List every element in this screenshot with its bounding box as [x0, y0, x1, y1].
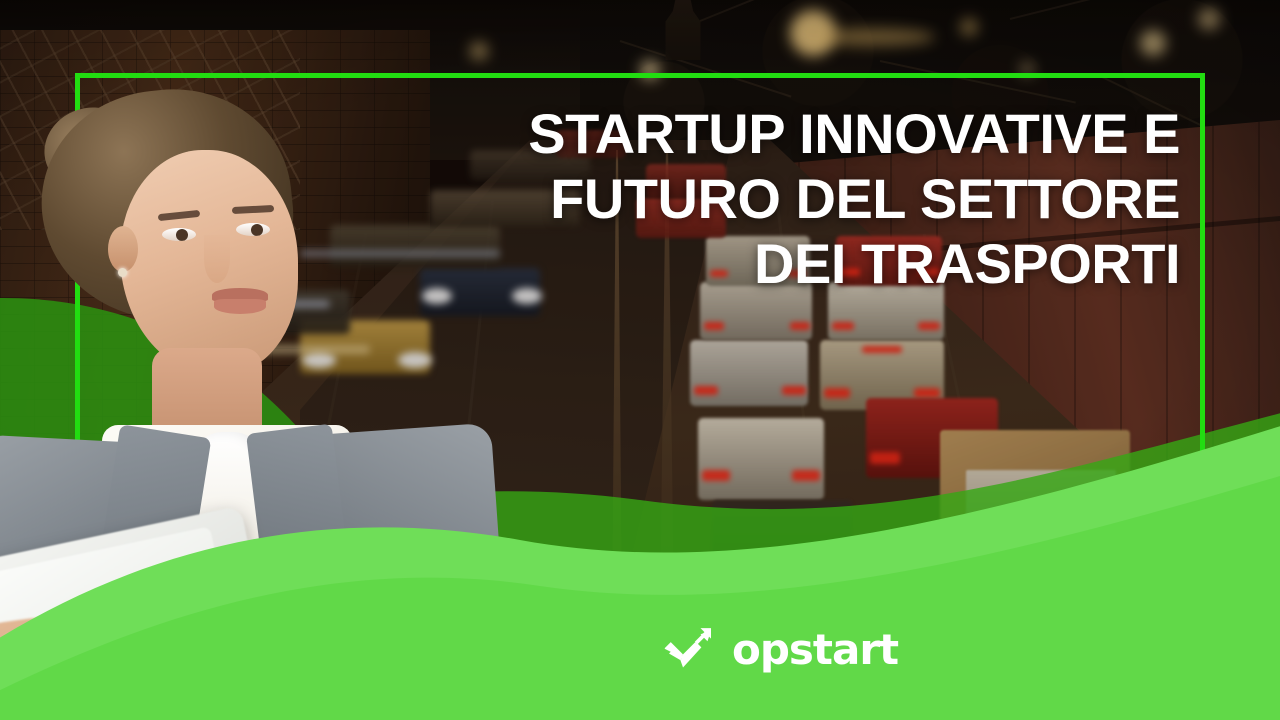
- banner-canvas: STARTUP INNOVATIVE E FUTURO DEL SETTORE …: [0, 0, 1280, 720]
- opstart-logo[interactable]: opstart: [662, 622, 898, 678]
- logo-wordmark: opstart: [732, 629, 898, 671]
- trending-up-check-icon: [662, 622, 718, 678]
- decorative-wave-front: [0, 0, 1280, 720]
